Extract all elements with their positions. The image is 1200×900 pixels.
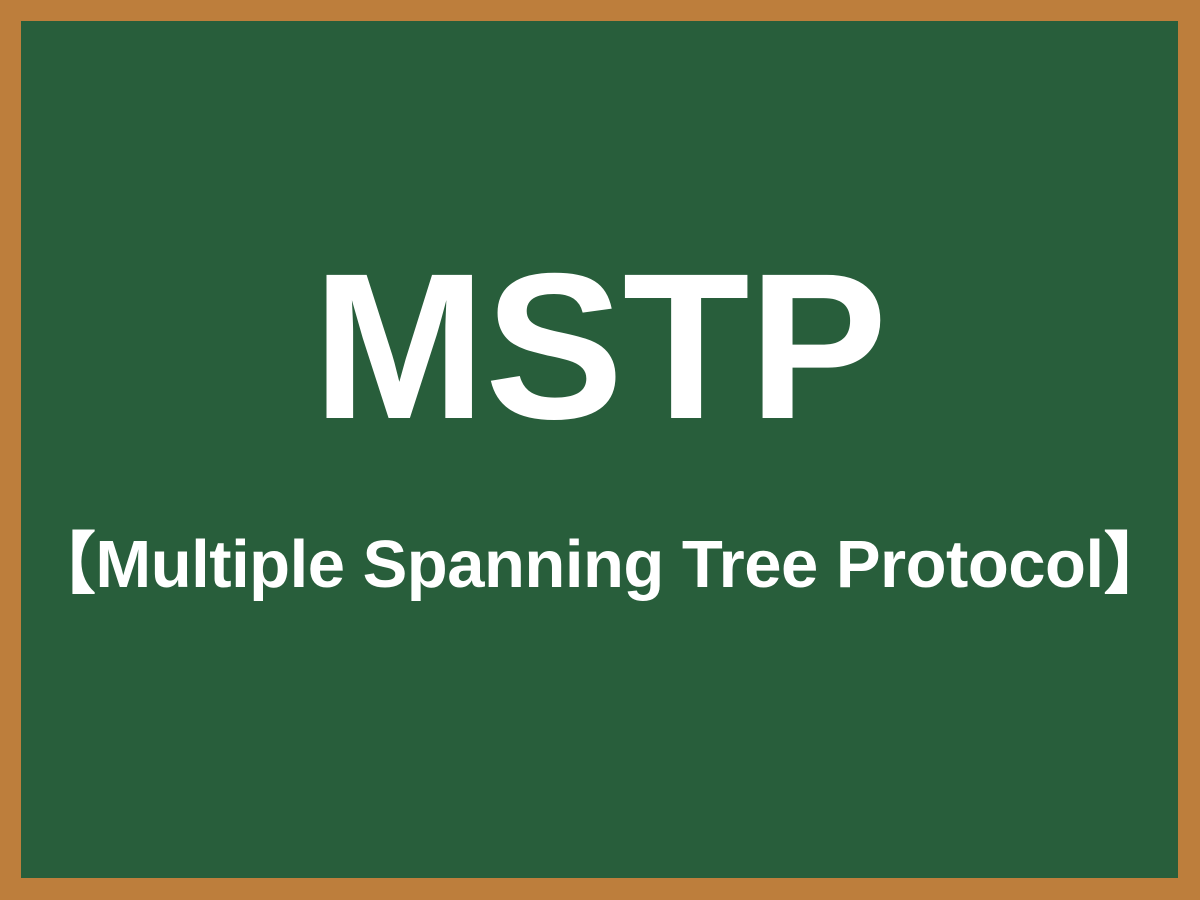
subtitle-block: 【Multiple Spanning Tree Protocol】 <box>21 523 1178 607</box>
eyecatch-inner-panel: MSTP 【Multiple Spanning Tree Protocol】 <box>21 21 1178 878</box>
page-title: MSTP <box>21 243 1178 451</box>
page-subtitle: 【Multiple Spanning Tree Protocol】 <box>21 523 1178 607</box>
eyecatch-card: MSTP 【Multiple Spanning Tree Protocol】 <box>0 0 1200 900</box>
title-block: MSTP <box>21 243 1178 451</box>
